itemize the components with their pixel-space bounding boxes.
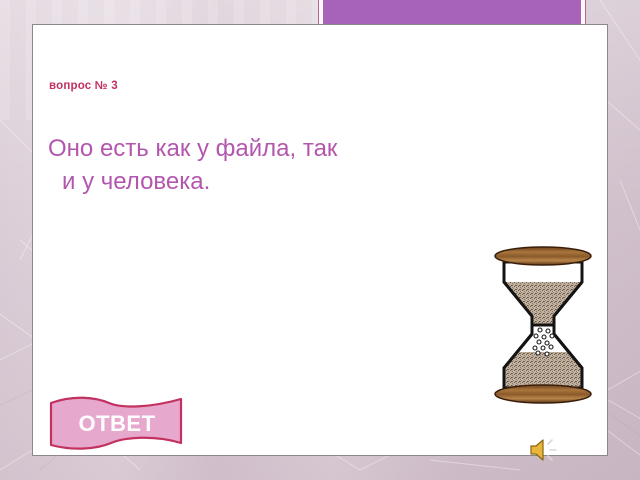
content-panel: вопрос № 3 Оно есть как у файла, так и у… bbox=[32, 24, 608, 456]
answer-button[interactable]: ОТВЕТ bbox=[47, 393, 187, 455]
question-text-line-2: и у человека. bbox=[48, 165, 378, 198]
question-text: Оно есть как у файла, так и у человека. bbox=[48, 132, 378, 198]
question-text-line-1: Оно есть как у файла, так bbox=[48, 135, 337, 162]
hourglass-icon bbox=[478, 230, 608, 420]
slide-canvas: вопрос № 3 Оно есть как у файла, так и у… bbox=[0, 0, 640, 480]
question-number-label: вопрос № 3 bbox=[49, 80, 118, 92]
speaker-icon[interactable] bbox=[527, 435, 561, 465]
